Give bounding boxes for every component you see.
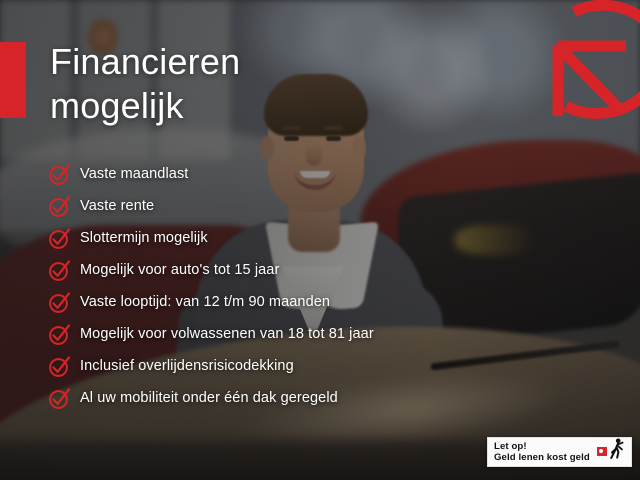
list-item-label: Vaste maandlast	[80, 166, 188, 183]
feature-list: Vaste maandlast Vaste rente Slottermijn …	[48, 158, 568, 414]
title-line-1: Financieren	[50, 40, 380, 84]
list-item-label: Inclusief overlijdensrisicodekking	[80, 358, 294, 375]
check-circle-icon	[48, 195, 71, 218]
title-line-2: mogelijk	[50, 84, 380, 128]
warning-icons	[597, 438, 625, 466]
list-item: Al uw mobiliteit onder één dak geregeld	[48, 382, 568, 414]
list-item-label: Mogelijk voor auto's tot 15 jaar	[80, 262, 279, 279]
list-item-label: Slottermijn mogelijk	[80, 230, 208, 247]
check-circle-icon	[48, 323, 71, 346]
page-title: Financieren mogelijk	[50, 40, 380, 128]
list-item: Vaste looptijd: van 12 t/m 90 maanden	[48, 286, 568, 318]
list-item: Mogelijk voor volwassenen van 18 tot 81 …	[48, 318, 568, 350]
warning-line-2: Geld lenen kost geld	[494, 452, 597, 464]
check-circle-icon	[48, 387, 71, 410]
list-item: Mogelijk voor auto's tot 15 jaar	[48, 254, 568, 286]
list-item-label: Vaste looptijd: van 12 t/m 90 maanden	[80, 294, 330, 311]
walking-man-icon	[609, 438, 625, 465]
list-item: Slottermijn mogelijk	[48, 222, 568, 254]
list-item-label: Vaste rente	[80, 198, 154, 215]
check-circle-icon	[48, 291, 71, 314]
check-circle-icon	[48, 227, 71, 250]
ball-and-chain-icon	[597, 447, 607, 456]
list-item: Inclusief overlijdensrisicodekking	[48, 350, 568, 382]
red-accent-block	[0, 42, 26, 118]
warning-line-1: Let op!	[494, 441, 597, 453]
list-item: Vaste rente	[48, 190, 568, 222]
check-circle-icon	[48, 355, 71, 378]
list-item-label: Mogelijk voor volwassenen van 18 tot 81 …	[80, 326, 374, 343]
list-item-label: Al uw mobiliteit onder één dak geregeld	[80, 390, 338, 407]
warning-text: Let op! Geld lenen kost geld	[494, 441, 597, 464]
check-circle-icon	[48, 259, 71, 282]
check-circle-icon	[48, 163, 71, 186]
list-item: Vaste maandlast	[48, 158, 568, 190]
circular-arrow-icon	[544, 0, 640, 126]
status-badge: Let op! Geld lenen kost geld	[487, 437, 632, 467]
financing-banner: A D Financieren mogelijk	[0, 0, 640, 480]
